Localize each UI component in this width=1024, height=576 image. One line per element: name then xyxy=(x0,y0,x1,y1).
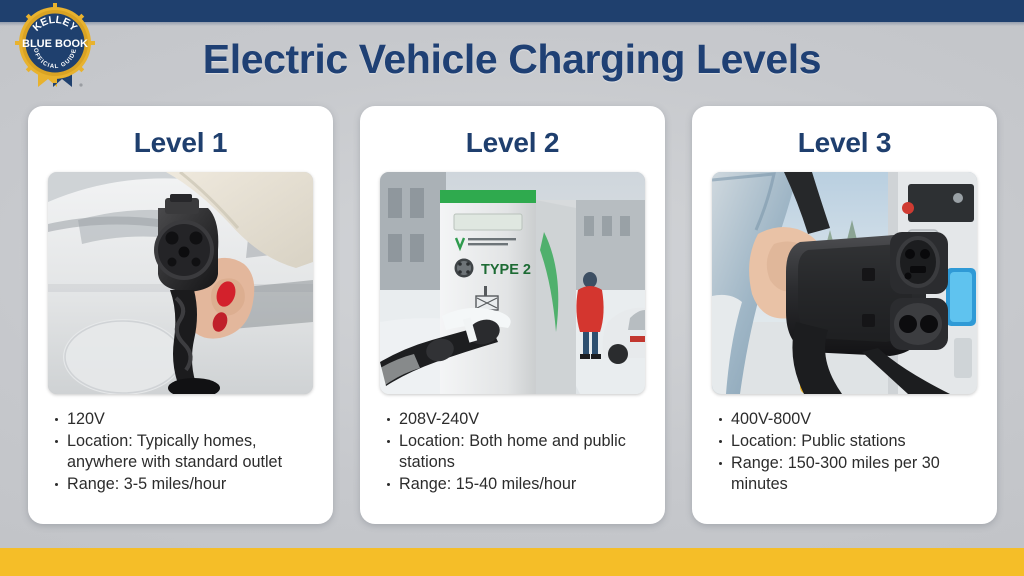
bottom-gold-stripe xyxy=(0,548,1024,576)
list-item: Range: 15-40 miles/hour xyxy=(386,474,649,495)
photo-level-3 xyxy=(712,172,977,394)
bullet-list-level-3: 400V-800V Location: Public stations Rang… xyxy=(692,409,997,495)
card-level-1: Level 1 xyxy=(28,106,333,524)
page-title: Electric Vehicle Charging Levels xyxy=(0,36,1024,83)
card-title: Level 2 xyxy=(360,127,665,159)
list-item: Location: Both home and public stations xyxy=(386,431,649,473)
list-item: Location: Public stations xyxy=(718,431,981,452)
list-item: Range: 3-5 miles/hour xyxy=(54,474,317,495)
list-item: 120V xyxy=(54,409,317,430)
photo-label-type2: TYPE 2 xyxy=(481,262,531,278)
levels-card-row: Level 1 xyxy=(28,106,997,524)
slide: KELLEY BLUE BOOK OFFICIAL GUIDE Electric… xyxy=(0,0,1024,576)
bullet-list-level-2: 208V-240V Location: Both home and public… xyxy=(360,409,665,495)
list-item: Location: Typically homes, anywhere with… xyxy=(54,431,317,473)
photo-level-2: TYPE 2 xyxy=(380,172,645,394)
bullet-list-level-1: 120V Location: Typically homes, anywhere… xyxy=(28,409,333,495)
card-level-3: Level 3 xyxy=(692,106,997,524)
list-item: 400V-800V xyxy=(718,409,981,430)
photo-level-1 xyxy=(48,172,313,394)
card-title: Level 1 xyxy=(28,127,333,159)
list-item: 208V-240V xyxy=(386,409,649,430)
top-bar-shadow xyxy=(0,22,1024,26)
list-item: Range: 150-300 miles per 30 minutes xyxy=(718,453,981,495)
card-title: Level 3 xyxy=(692,127,997,159)
card-level-2: Level 2 xyxy=(360,106,665,524)
top-navy-bar xyxy=(0,0,1024,22)
